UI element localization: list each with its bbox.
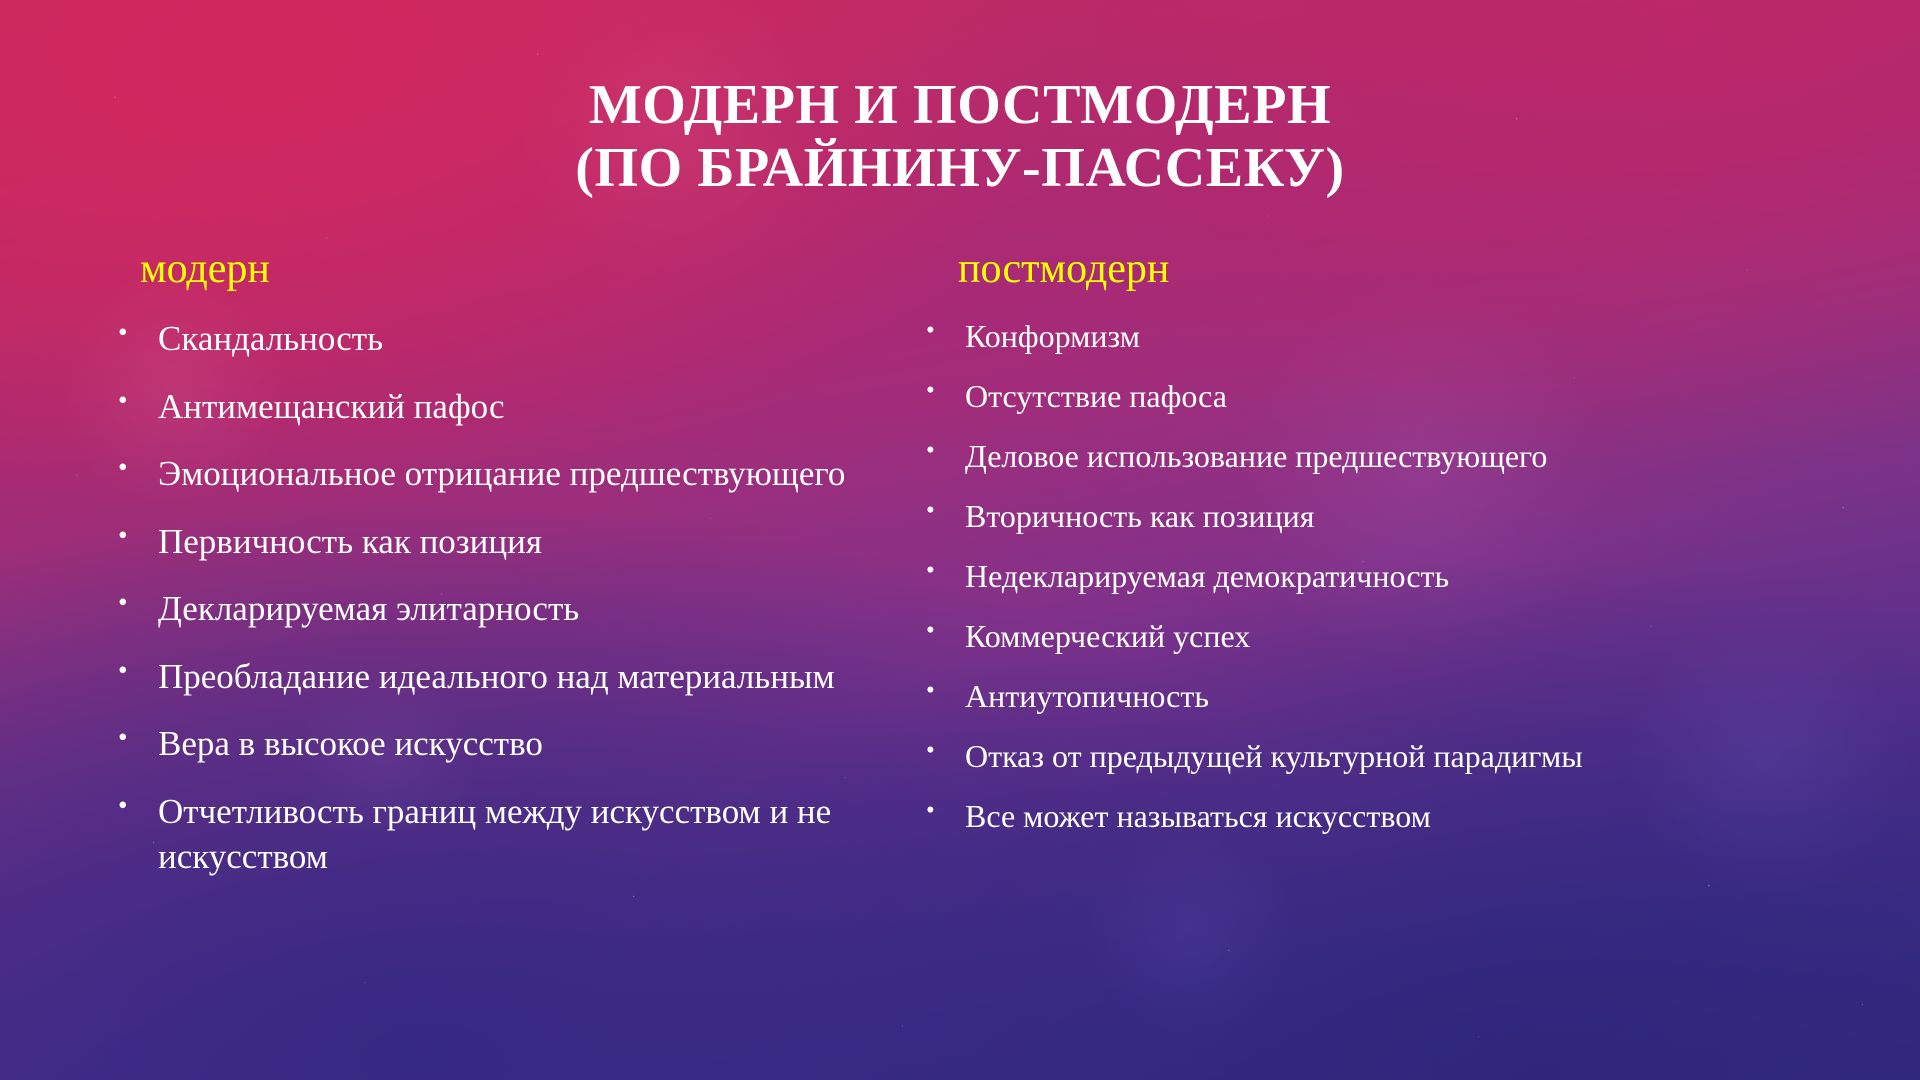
list-item: Отказ от предыдущей культурной парадигмы <box>910 736 1700 777</box>
comparison-columns: модерн Скандальность Антимещанский пафос… <box>0 246 1920 1066</box>
list-item: Недекларируемая демократичность <box>910 556 1700 597</box>
list-item: Первичность как позиция <box>110 519 890 565</box>
column-postmodern: постмодерн Конформизм Отсутствие пафоса … <box>910 246 1700 856</box>
list-item: Отчетливость границ между искусством и н… <box>110 789 890 880</box>
list-item: Вера в высокое искусство <box>110 721 890 767</box>
list-item: Все может называться искусством <box>910 796 1700 837</box>
list-item: Деловое использование предшествующего <box>910 436 1700 477</box>
slide-title: Модерн и постмодерн (по Брайнину-Пассеку… <box>0 74 1920 202</box>
bullet-list-postmodern: Конформизм Отсутствие пафоса Деловое исп… <box>910 316 1700 837</box>
column-heading-modern: модерн <box>110 246 890 292</box>
list-item: Конформизм <box>910 316 1700 357</box>
list-item: Скандальность <box>110 316 890 362</box>
list-item: Антиутопичность <box>910 676 1700 717</box>
slide-content: Модерн и постмодерн (по Брайнину-Пассеку… <box>0 0 1920 1080</box>
list-item: Коммерческий успех <box>910 616 1700 657</box>
list-item: Антимещанский пафос <box>110 384 890 430</box>
list-item: Вторичность как позиция <box>910 496 1700 537</box>
list-item: Отсутствие пафоса <box>910 376 1700 417</box>
column-heading-postmodern: постмодерн <box>910 246 1700 292</box>
list-item: Эмоциональное отрицание предшествующего <box>110 451 890 497</box>
column-modern: модерн Скандальность Антимещанский пафос… <box>110 246 890 902</box>
list-item: Декларируемая элитарность <box>110 586 890 632</box>
presentation-slide: Модерн и постмодерн (по Брайнину-Пассеку… <box>0 0 1920 1080</box>
list-item: Преобладание идеального над материальным <box>110 654 890 700</box>
bullet-list-modern: Скандальность Антимещанский пафос Эмоцио… <box>110 316 890 880</box>
